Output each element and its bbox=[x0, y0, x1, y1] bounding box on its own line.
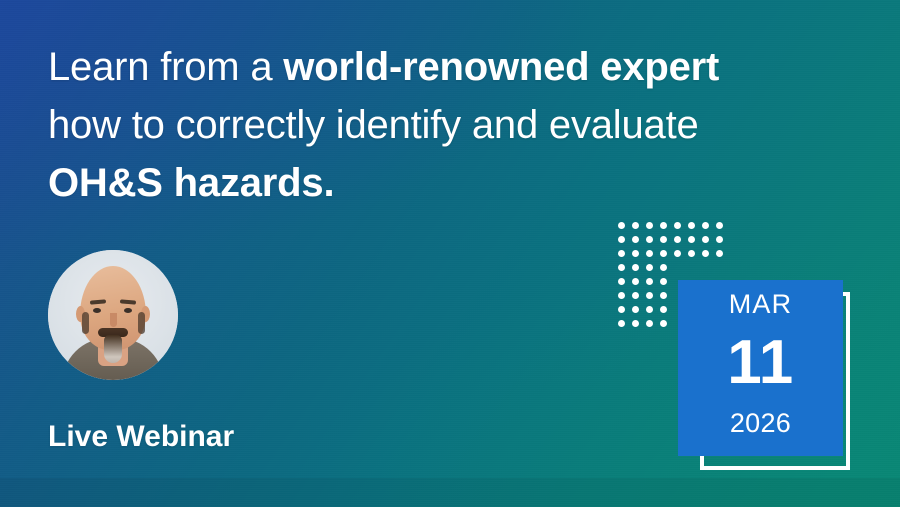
dot-grid-dot bbox=[618, 250, 625, 257]
dot-grid-dot bbox=[618, 306, 625, 313]
event-date-day: 11 bbox=[727, 332, 794, 394]
dot-grid-dot bbox=[632, 250, 639, 257]
dot-grid-dot bbox=[632, 306, 639, 313]
dot-grid-dot bbox=[674, 236, 681, 243]
avatar-sideburn-right bbox=[138, 312, 145, 334]
headline-line-3-bold: OH&S hazards. bbox=[48, 161, 334, 205]
event-date-month: MAR bbox=[729, 291, 793, 318]
dot-grid-dot bbox=[716, 236, 723, 243]
avatar-eye-left bbox=[93, 308, 101, 313]
dot-grid-dot bbox=[646, 278, 653, 285]
dot-grid-dot bbox=[646, 250, 653, 257]
avatar bbox=[48, 250, 178, 380]
dot-grid-dot bbox=[646, 236, 653, 243]
headline-line-3: OH&S hazards. bbox=[48, 154, 858, 212]
avatar-nose bbox=[110, 313, 117, 327]
dot-grid-dot bbox=[618, 236, 625, 243]
dot-grid-dot bbox=[660, 306, 667, 313]
avatar-eye-right bbox=[124, 308, 132, 313]
webinar-promo-banner: Learn from a world-renowned expert how t… bbox=[0, 0, 900, 507]
page-title: Learn from a world-renowned expert how t… bbox=[48, 38, 858, 212]
dot-grid-dot bbox=[618, 278, 625, 285]
dot-grid-dot bbox=[660, 264, 667, 271]
event-date-year: 2026 bbox=[730, 410, 791, 437]
dot-grid-dot bbox=[632, 222, 639, 229]
dot-grid-dot bbox=[716, 222, 723, 229]
dot-grid-dot bbox=[674, 250, 681, 257]
dot-grid-dot bbox=[632, 264, 639, 271]
dot-grid-dot bbox=[660, 278, 667, 285]
dot-grid-dot bbox=[618, 320, 625, 327]
dot-grid-dot bbox=[716, 250, 723, 257]
dot-grid-dot bbox=[688, 222, 695, 229]
dot-grid-dot bbox=[632, 278, 639, 285]
dot-grid-dot bbox=[660, 320, 667, 327]
dot-grid-dot bbox=[632, 320, 639, 327]
dot-grid-dot bbox=[618, 222, 625, 229]
dot-grid-dot bbox=[688, 236, 695, 243]
dot-grid-dot bbox=[618, 264, 625, 271]
dot-grid-dot bbox=[646, 222, 653, 229]
dot-grid-dot bbox=[646, 306, 653, 313]
dot-grid-dot bbox=[674, 222, 681, 229]
event-date-card: MAR 11 2026 bbox=[678, 280, 843, 456]
avatar-sideburn-left bbox=[82, 312, 89, 334]
event-type-label: Live Webinar bbox=[48, 420, 234, 454]
dot-grid-dot bbox=[688, 250, 695, 257]
dot-grid-dot bbox=[646, 292, 653, 299]
dot-grid-dot bbox=[702, 250, 709, 257]
dot-grid-dot bbox=[660, 250, 667, 257]
dot-grid-dot bbox=[660, 236, 667, 243]
dot-grid-dot bbox=[660, 222, 667, 229]
headline-line-2: how to correctly identify and evaluate bbox=[48, 96, 858, 154]
dot-grid-dot bbox=[618, 292, 625, 299]
headline-line-1-plain: Learn from a bbox=[48, 45, 283, 89]
dot-grid-dot bbox=[702, 236, 709, 243]
dot-grid-dot bbox=[646, 320, 653, 327]
dot-grid-dot bbox=[632, 292, 639, 299]
dot-grid-dot bbox=[702, 222, 709, 229]
dot-grid-dot bbox=[646, 264, 653, 271]
avatar-goatee bbox=[104, 335, 122, 363]
bottom-shade-band bbox=[0, 478, 900, 507]
headline-line-1: Learn from a world-renowned expert bbox=[48, 38, 858, 96]
dot-grid-dot bbox=[632, 236, 639, 243]
headline-line-1-bold: world-renowned expert bbox=[283, 45, 719, 89]
dot-grid-dot bbox=[660, 292, 667, 299]
